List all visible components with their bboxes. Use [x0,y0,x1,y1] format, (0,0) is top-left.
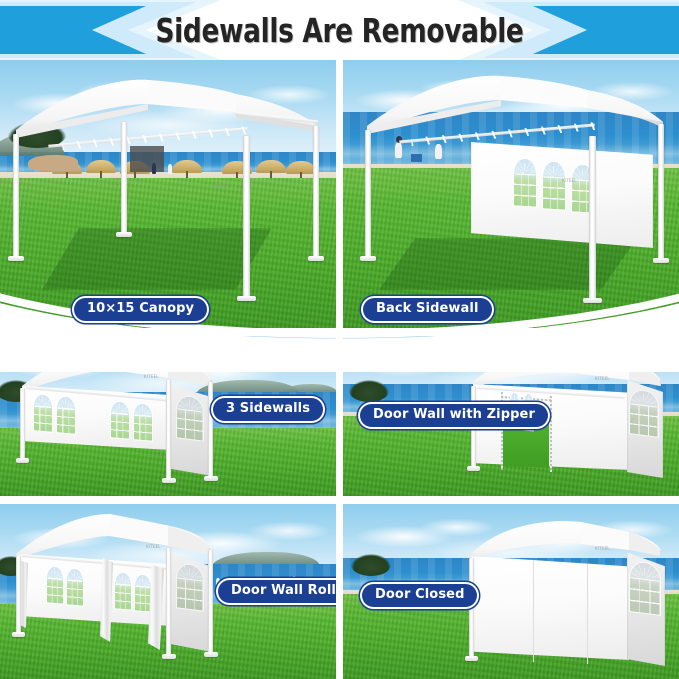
brand-logo: KITEEL [144,374,159,379]
brand-logo: KITEEL [214,183,229,188]
canopy-leg [16,556,21,634]
panel-label-door-wall-zipper: Door Wall with Zipper [360,404,548,427]
header-banner: Sidewalls Are Removable [0,0,679,60]
panel-label-door-wall-rolled: Door Wall Rolled [218,580,336,603]
canopy-leg [208,382,213,478]
panel-bottom-left[interactable]: KITEEL Door Wall Rolled [0,504,336,679]
panel-middle-left[interactable]: KITEEL 3 Sidewalls [0,336,336,496]
canopy-leg [365,130,371,258]
panel-label-door-closed: Door Closed [362,584,477,607]
canopy-foot [16,458,29,463]
canopy-foot [162,478,176,483]
canopy-foot [8,256,24,261]
zipper-right[interactable] [550,396,552,472]
sidewall-window [629,388,659,438]
sidewall-window [629,560,661,616]
panel-middle-right[interactable]: KITEEL Door Wall with Zipper [343,336,679,496]
canopy-leg [243,136,250,298]
canopy-foot [653,258,669,263]
sidewall-window [133,402,153,442]
canopy-leg [658,124,664,260]
panel-label-3-sidewalls: 3 Sidewalls [213,398,323,421]
panel-label-10x15-canopy: 10×15 Canopy [74,298,207,321]
canopy-foot [116,232,132,237]
canopy-foot [467,466,480,471]
brand-logo: KITEEL [595,376,610,381]
canopy-foot [465,656,478,661]
brand-logo: KITEEL [595,546,610,551]
sidewall-window [56,395,76,435]
canopy-leg [166,380,171,480]
sidewall-window [176,562,204,611]
canopy-foot [12,632,25,637]
sidewall-window [110,400,130,440]
canopy-leg [20,388,25,460]
sidewall-window [513,157,537,207]
canopy-foot [162,654,176,659]
canopy-leg [13,134,19,258]
panel-label-back-sidewall: Back Sidewall [363,298,492,321]
infographic-page: Sidewalls Are Removable [0,0,679,679]
sidewall-window [66,567,84,606]
panel-top-left[interactable]: KITEEL 10×15 Canopy [0,60,336,328]
wall-seam [533,560,534,662]
canopy-roof [0,60,336,328]
canopy-foot [360,256,376,261]
page-title: Sidewalls Are Removable [68,0,611,60]
canopy-foot [583,298,602,303]
canopy-foot [204,476,218,481]
sidewall-window [33,393,53,433]
canopy-leg [313,126,319,258]
panel-grid: KITEEL 10×15 Canopy [0,60,679,679]
canopy-foot [204,652,218,657]
front-wall-closed[interactable] [471,556,629,660]
canopy-leg [208,550,213,654]
canopy-no-sidewalls: KITEEL [0,60,336,328]
canopy-back-sidewall: KITEEL [343,60,679,328]
panel-bottom-right[interactable]: KITEEL Door Closed [343,504,679,679]
panel-top-right[interactable]: KITEEL Back Sidewall [343,60,679,328]
sidewall-window [114,571,132,610]
canopy-leg [121,122,127,234]
canopy-foot [308,256,324,261]
canopy-leg [469,558,474,658]
sidewall-window [176,394,204,441]
brand-logo: KITEEL [562,178,577,183]
brand-logo: KITEEL [146,544,161,549]
sidewall-window [46,565,64,604]
canopy-leg [589,136,596,300]
canopy-leg [166,548,171,656]
canopy-foot [237,296,256,301]
sidewall-window [542,160,566,210]
wall-seam [587,564,588,664]
sidewall-window [134,573,152,612]
